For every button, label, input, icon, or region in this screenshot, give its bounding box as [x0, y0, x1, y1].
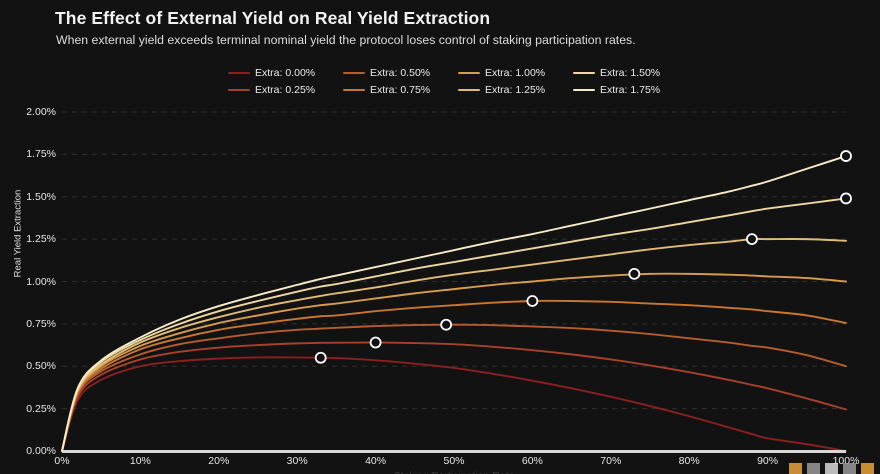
x-axis-tick-label: 80%: [679, 455, 700, 467]
series-line: [62, 274, 846, 451]
y-axis-tick-label: 1.75%: [8, 148, 56, 160]
x-axis-line: [62, 450, 846, 453]
watermark-block-amber-2: [861, 463, 874, 474]
x-axis-tick-label: 30%: [287, 455, 308, 467]
peak-marker: [841, 193, 851, 203]
watermark-block-amber: [789, 463, 802, 474]
y-axis-tick-label: 2.00%: [8, 106, 56, 118]
series-line: [62, 343, 846, 451]
x-axis-tick-label: 60%: [522, 455, 543, 467]
x-axis-tick-label: 90%: [757, 455, 778, 467]
y-axis-tick-label: 0.50%: [8, 360, 56, 372]
plot-canvas: [0, 0, 880, 474]
series-line: [62, 156, 846, 451]
chart-screenshot: The Effect of External Yield on Real Yie…: [0, 0, 880, 474]
peak-marker: [316, 353, 326, 363]
peak-marker: [441, 320, 451, 330]
watermark-block-1: [807, 463, 820, 474]
peak-marker: [371, 338, 381, 348]
peak-marker: [629, 269, 639, 279]
x-axis-tick-label: 10%: [130, 455, 151, 467]
x-axis-tick-label: 40%: [365, 455, 386, 467]
peak-marker: [747, 234, 757, 244]
peak-marker: [841, 151, 851, 161]
y-axis-tick-label: 0.75%: [8, 318, 56, 330]
peak-marker: [527, 296, 537, 306]
x-axis-tick-label: 0%: [54, 455, 69, 467]
y-axis-title: Real Yield Extraction: [13, 174, 24, 294]
x-axis-tick-label: 70%: [600, 455, 621, 467]
watermark-logo: [789, 463, 874, 474]
watermark-block-2: [825, 463, 838, 474]
y-axis-tick-label: 0.25%: [8, 403, 56, 415]
x-axis-tick-label: 20%: [208, 455, 229, 467]
y-axis-tick-label: 0.00%: [8, 445, 56, 457]
watermark-block-3: [843, 463, 856, 474]
plot-area: [0, 0, 880, 474]
x-axis-title: Staking Participation Rate: [394, 470, 515, 474]
x-axis-tick-label: 50%: [443, 455, 464, 467]
series-line: [62, 357, 846, 451]
